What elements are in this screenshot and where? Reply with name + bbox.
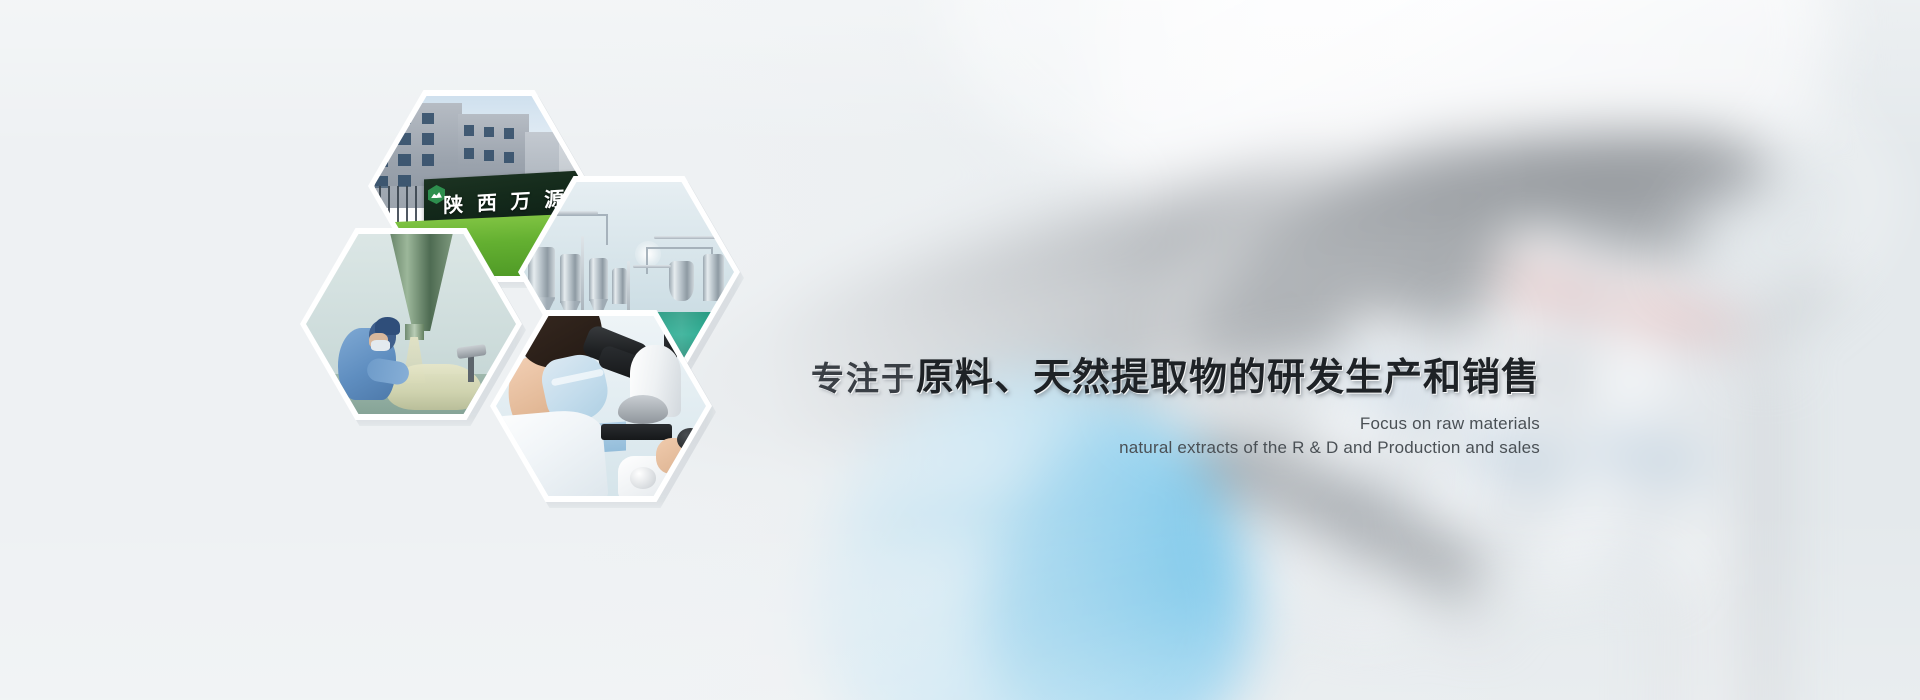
microscope-focus-knob [630, 467, 655, 489]
background-vignette [0, 0, 1920, 700]
mixing-vessel [669, 261, 694, 301]
extraction-tank-4 [612, 268, 627, 304]
microscope-lab-photo [496, 316, 706, 496]
powder-collection-photo [306, 234, 516, 414]
headline-lead: 专注于 [811, 359, 916, 398]
hero-subtitle-line-2: natural extracts of the R & D and Produc… [700, 438, 1540, 458]
vertical-pipe [627, 261, 630, 315]
extraction-tank-3 [589, 258, 608, 301]
headline-emphasis: 原料、天然提取物的研发生产和销售 [916, 355, 1540, 399]
extraction-tank-1 [528, 247, 555, 301]
factory-fence [374, 186, 424, 222]
sign-char-3: 万 [510, 184, 531, 214]
worker-face-mask [371, 340, 390, 351]
microscope-objective-turret [618, 395, 668, 424]
hero-banner: 陕 西 万 源 [0, 0, 1920, 700]
hero-text-block: 专注于原料、天然提取物的研发生产和销售 Focus on raw materia… [700, 358, 1540, 458]
hero-headline: 专注于原料、天然提取物的研发生产和销售 [700, 358, 1540, 398]
horizontal-pipe [633, 265, 671, 268]
vertical-pipe [581, 236, 584, 312]
extraction-tank-5 [703, 254, 724, 301]
sign-char-2: 西 [477, 186, 498, 216]
hero-subtitle-line-1: Focus on raw materials [700, 414, 1540, 434]
ceiling-pipe [654, 236, 725, 239]
microscope-stage [601, 424, 672, 440]
extraction-tank-2 [560, 254, 581, 303]
sign-char-1: 陕 [443, 188, 464, 218]
